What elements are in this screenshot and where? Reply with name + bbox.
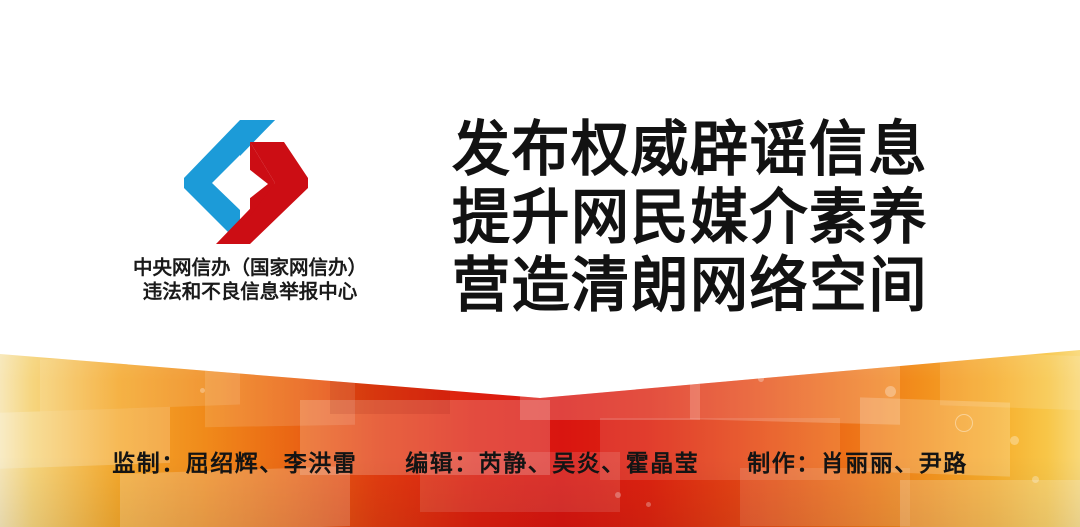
credit-supervisor: 监制：屈绍辉、李洪雷 [112, 449, 357, 479]
headline: 发布权威辟谣信息 提升网民媒介素养 营造清朗网络空间 [452, 114, 952, 318]
emblem-block: 中央网信办（国家网信办） 违法和不良信息举报中心 [100, 118, 400, 318]
credit-editor: 编辑：芮静、吴炎、霍晶莹 [405, 449, 699, 479]
headline-line-2: 提升网民媒介素养 [452, 182, 952, 253]
credit-producer: 制作：肖丽丽、尹路 [747, 449, 968, 479]
headline-line-1: 发布权威辟谣信息 [452, 114, 952, 185]
poster-root: 中央网信办（国家网信办） 违法和不良信息举报中心 发布权威辟谣信息 提升网民媒介… [0, 0, 1080, 527]
bottom-ribbon [0, 340, 1080, 527]
china-cac-report-center-logo-icon [180, 118, 310, 246]
ribbon-shading [0, 340, 1080, 527]
headline-line-3: 营造清朗网络空间 [452, 250, 952, 321]
credits-bar: 监制：屈绍辉、李洪雷 编辑：芮静、吴炎、霍晶莹 制作：肖丽丽、尹路 [0, 444, 1080, 484]
emblem-caption: 中央网信办（国家网信办） 违法和不良信息举报中心 [100, 256, 400, 304]
emblem-caption-line-2: 违法和不良信息举报中心 [100, 280, 400, 304]
emblem-caption-line-1: 中央网信办（国家网信办） [100, 256, 400, 280]
